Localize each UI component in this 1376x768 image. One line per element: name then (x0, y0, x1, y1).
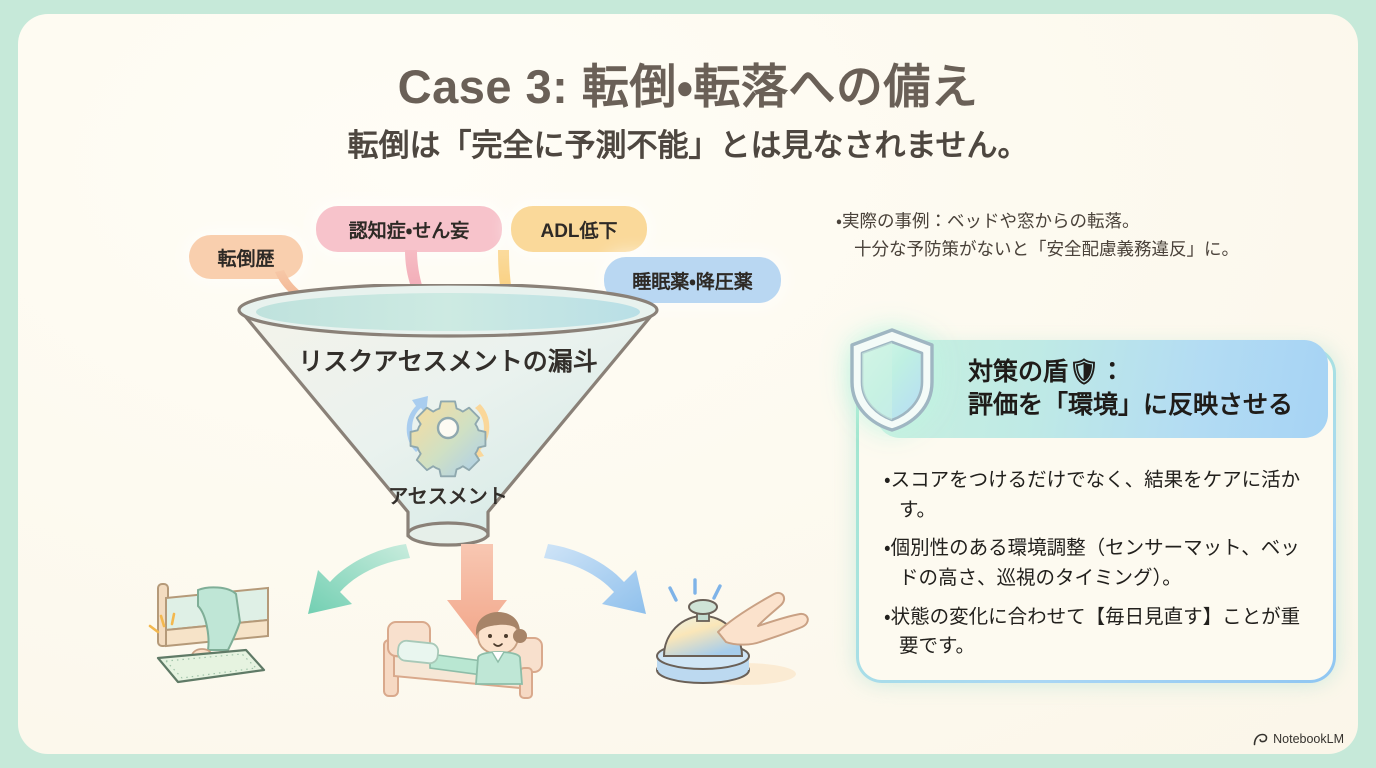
page-title: Case 3: 転倒・転落への備え (18, 48, 1358, 117)
risk-pill-label: 認知症・せん妄 (349, 216, 469, 243)
risk-pill-dementia-delirium[interactable]: 認知症・せん妄 (316, 206, 502, 252)
shield-icon (846, 326, 938, 434)
sensor-mat-illustration (136, 562, 361, 712)
case-note: ・実際の事例：ベッドや窓からの転落。 十分な予防策がないと「安全配慮義務違反」に… (836, 207, 1356, 264)
case-note-line1: ・実際の事例：ベッドや窓からの転落。 (836, 211, 1139, 231)
countermeasure-bullet: ・個別性のある環境調整（センサーマット、ベッドの高さ、巡視のタイミング）。 (884, 534, 1308, 593)
bed-nurse-illustration (370, 592, 595, 727)
countermeasure-panel-header: 対策の盾🛡： 評価を「環境」に反映させる (876, 340, 1328, 438)
countermeasure-panel-title-line2: 評価を「環境」に反映させる (968, 389, 1293, 422)
call-bell-illustration (648, 574, 838, 704)
funnel-title: リスクアセスメントの漏斗 (208, 342, 688, 378)
risk-pill-label: ADL低下 (540, 216, 617, 243)
gear-icon (390, 376, 506, 480)
ring-spark-icon (670, 580, 720, 600)
countermeasure-panel-title-line1: 対策の盾🛡： (968, 356, 1293, 389)
risk-pill-label: 転倒歴 (217, 244, 274, 271)
countermeasure-bullet: ・スコアをつけるだけでなく、結果をケアに活かす。 (884, 466, 1308, 525)
case-note-line2: 十分な予防策がないと「安全配慮義務違反」に。 (836, 235, 1356, 263)
risk-pill-fall-history[interactable]: 転倒歴 (189, 235, 303, 279)
notebooklm-logo-icon (1253, 733, 1268, 746)
page-subtitle: 転倒は「完全に予測不能」とは見なされません。 (18, 120, 1358, 165)
risk-assessment-funnel: リスクアセスメントの漏斗 アセスメント (208, 284, 688, 574)
slide-canvas: Case 3: 転倒・転落への備え 転倒は「完全に予測不能」とは見なされません。… (18, 14, 1358, 754)
countermeasure-bullet-list: ・スコアをつけるだけでなく、結果をケアに活かす。 ・個別性のある環境調整（センサ… (884, 466, 1308, 671)
risk-pill-adl-decline[interactable]: ADL低下 (511, 206, 647, 252)
countermeasure-bullet: ・状態の変化に合わせて【毎日見直す】ことが重要です。 (884, 603, 1308, 662)
funnel-sublabel: アセスメント (208, 480, 688, 509)
countermeasure-panel-title: 対策の盾🛡： 評価を「環境」に反映させる (968, 356, 1293, 422)
notebooklm-watermark-label: NotebookLM (1273, 732, 1344, 746)
notebooklm-watermark: NotebookLM (1253, 732, 1344, 746)
